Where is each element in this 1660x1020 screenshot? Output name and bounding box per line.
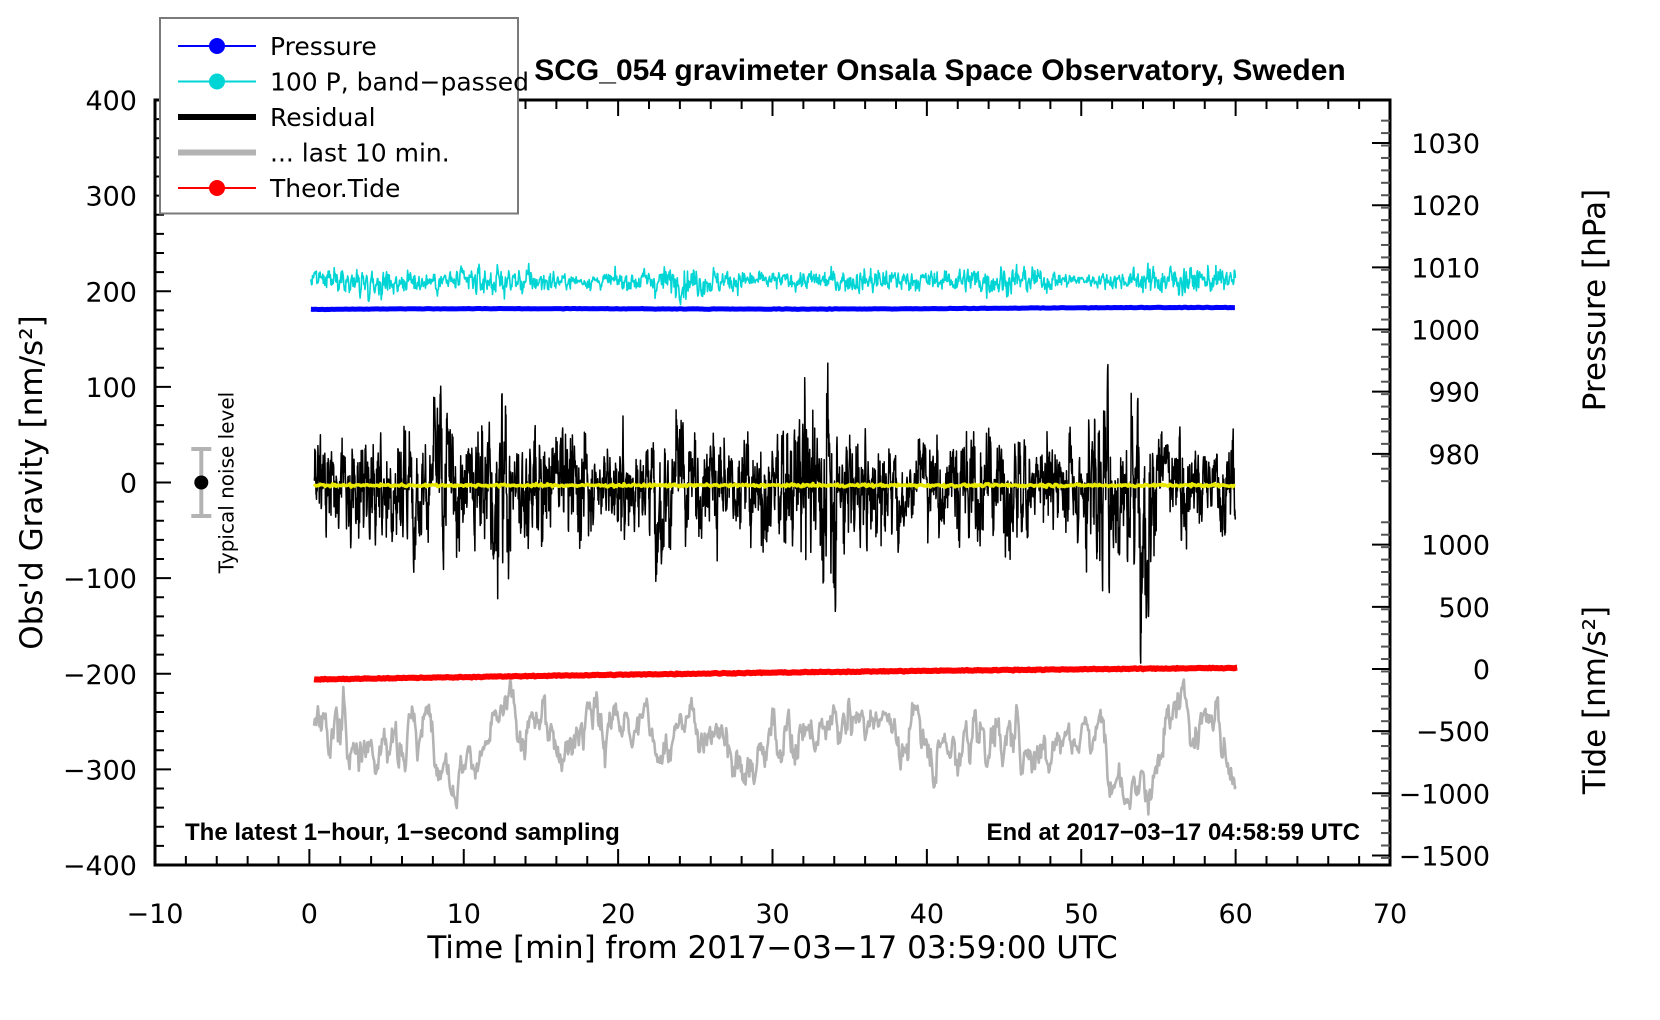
y-tick-label: 200 bbox=[85, 277, 137, 308]
y-tick-label: 100 bbox=[85, 373, 137, 404]
noise-level-label: Typical noise level bbox=[214, 392, 238, 574]
bottom-left-note: The latest 1−hour, 1−second sampling bbox=[185, 819, 620, 846]
series-last-10-min bbox=[314, 680, 1236, 815]
x-tick-label: 70 bbox=[1373, 899, 1407, 930]
pressure-axis-tick-label: 1000 bbox=[1411, 316, 1480, 347]
pressure-axis-tick-label: 1030 bbox=[1411, 129, 1480, 160]
noise-point bbox=[194, 476, 208, 490]
bottom-right-note: End at 2017−03−17 04:58:59 UTC bbox=[986, 819, 1360, 846]
pressure-axis-tick-label: 1010 bbox=[1411, 253, 1480, 284]
tide-axis-title: Tide [nm/s²] bbox=[1577, 606, 1613, 795]
tide-axis-tick-label: −1500 bbox=[1399, 841, 1490, 872]
x-tick-label: 40 bbox=[910, 899, 944, 930]
y-tick-label: −300 bbox=[63, 755, 137, 786]
x-tick-label: 60 bbox=[1218, 899, 1252, 930]
y-tick-label: 300 bbox=[85, 182, 137, 213]
tide-axis-tick-label: 0 bbox=[1473, 655, 1490, 686]
gravimeter-chart: −100102030405060704003002001000−100−200−… bbox=[0, 0, 1660, 1020]
x-tick-label: 30 bbox=[755, 899, 789, 930]
series-pressure bbox=[311, 307, 1235, 309]
legend: Pressure100 P, band−passedResidual... la… bbox=[160, 18, 529, 214]
pressure-axis-title: Pressure [hPa] bbox=[1577, 189, 1613, 411]
y-tick-label: −200 bbox=[63, 660, 137, 691]
y-tick-label: −400 bbox=[63, 851, 137, 882]
chart-title: SCG_054 gravimeter Onsala Space Observat… bbox=[534, 54, 1346, 87]
pressure-axis-tick-label: 980 bbox=[1428, 440, 1480, 471]
y-tick-label: 0 bbox=[120, 469, 137, 500]
series-theor-tide bbox=[314, 668, 1237, 680]
legend-label: Theor.Tide bbox=[269, 174, 400, 203]
series-residual bbox=[314, 363, 1235, 663]
x-tick-label: 20 bbox=[601, 899, 635, 930]
x-axis-title: Time [min] from 2017−03−17 03:59:00 UTC bbox=[426, 930, 1117, 966]
pressure-axis-tick-label: 990 bbox=[1428, 378, 1480, 409]
series-zero-overlay bbox=[314, 484, 1235, 488]
series-band-passed bbox=[311, 263, 1236, 304]
tide-axis-tick-label: 500 bbox=[1438, 593, 1490, 624]
legend-marker bbox=[209, 38, 225, 54]
legend-marker bbox=[209, 74, 225, 90]
legend-label: ... last 10 min. bbox=[270, 139, 450, 168]
x-tick-label: 50 bbox=[1064, 899, 1098, 930]
tide-axis-tick-label: −500 bbox=[1416, 717, 1490, 748]
legend-label: 100 P, band−passed bbox=[270, 68, 529, 97]
tide-axis-tick-label: −1000 bbox=[1399, 779, 1490, 810]
y-tick-label: 400 bbox=[85, 86, 137, 117]
pressure-axis-tick-label: 1020 bbox=[1411, 191, 1480, 222]
x-tick-label: −10 bbox=[127, 899, 184, 930]
x-tick-label: 0 bbox=[301, 899, 318, 930]
x-tick-label: 10 bbox=[447, 899, 481, 930]
noise-level-marker bbox=[191, 449, 211, 516]
y-tick-label: −100 bbox=[63, 564, 137, 595]
tide-axis-tick-label: 1000 bbox=[1421, 531, 1490, 562]
plot-window: −100102030405060704003002001000−100−200−… bbox=[0, 0, 1660, 1020]
legend-label: Pressure bbox=[270, 32, 377, 61]
y-axis-title: Obs'd Gravity [nm/s²] bbox=[14, 315, 50, 649]
legend-label: Residual bbox=[270, 103, 376, 132]
legend-marker bbox=[209, 180, 225, 196]
